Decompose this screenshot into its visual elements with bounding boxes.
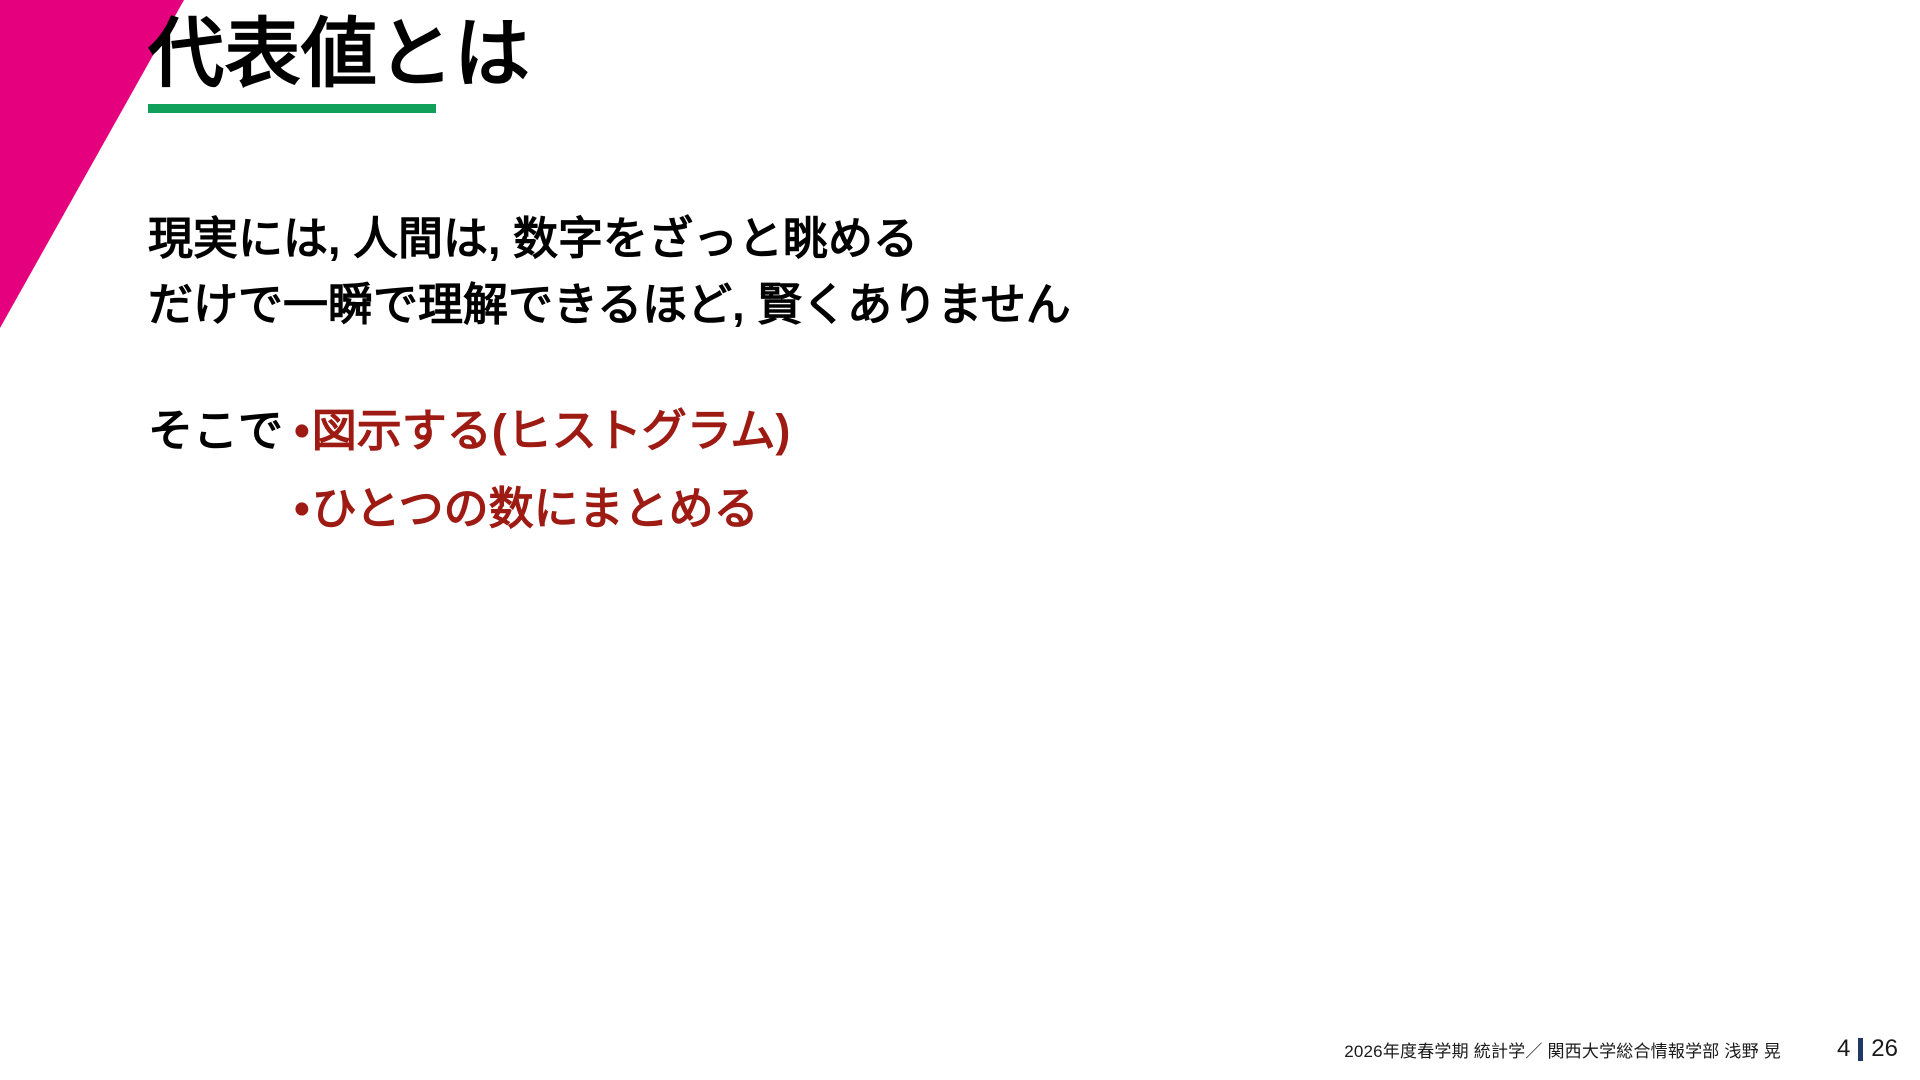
bullet-list: そこで • 図示する(ヒストグラム) • ひとつの数にまとめる — [148, 392, 1768, 548]
page-indicator: 4 26 — [1837, 1035, 1898, 1063]
bullet-point-icon: • — [294, 486, 310, 531]
bullet-item-2-label: ひとつの数にまとめる — [312, 470, 759, 548]
slide-footer: 2026年度春学期 統計学／ 関西大学総合情報学部 浅野 晃 4 26 — [0, 1034, 1920, 1064]
bullet-lead-in-label: そこで — [148, 392, 294, 470]
body-line-1: 現実には, 人間は, 数字をざっと眺める — [148, 206, 1768, 272]
title-block: 代表値とは — [148, 14, 1348, 113]
body-paragraph: 現実には, 人間は, 数字をざっと眺める だけで一瞬で理解できるほど, 賢くあり… — [148, 206, 1768, 338]
bullet-row-1: そこで • 図示する(ヒストグラム) — [148, 392, 1768, 470]
bullet-point-icon: • — [294, 408, 310, 453]
page-number-total: 26 — [1871, 1035, 1898, 1063]
body-line-2: だけで一瞬で理解できるほど, 賢くありません — [148, 272, 1768, 338]
bullet-lead-in-spacer — [148, 470, 294, 548]
bullet-row-2: • ひとつの数にまとめる — [148, 470, 1768, 548]
footer-credit-text: 2026年度春学期 統計学／ 関西大学総合情報学部 浅野 晃 — [1344, 1037, 1781, 1062]
bullet-item-1-label: 図示する(ヒストグラム) — [312, 392, 791, 470]
title-underline-rule — [148, 104, 436, 113]
page-number-separator-icon — [1858, 1038, 1863, 1061]
page-title: 代表値とは — [148, 14, 1348, 96]
page-number-current: 4 — [1837, 1035, 1850, 1063]
